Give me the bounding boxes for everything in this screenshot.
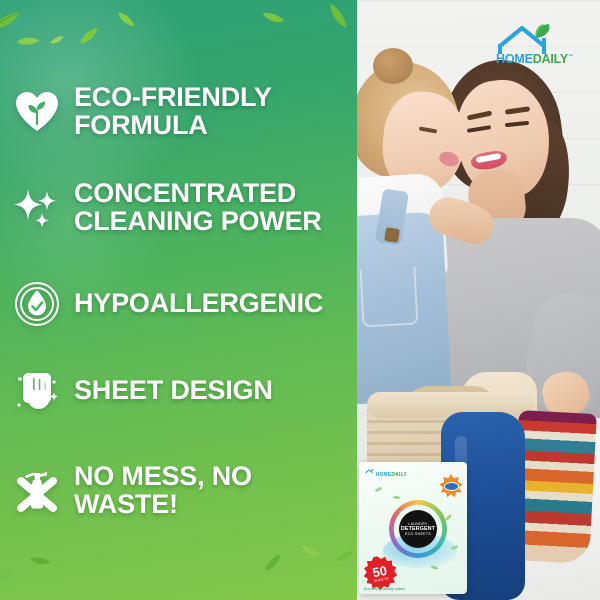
hand-sheet-icon — [14, 368, 60, 414]
award-starburst-icon — [439, 474, 463, 498]
feature-item-no-mess: NO MESS, NO WASTE! — [14, 463, 357, 518]
sparkles-icon — [14, 185, 60, 231]
lifestyle-photo: HOMEDAILY LAUNDRY DETERGENT ECO SHEETS 5… — [357, 0, 600, 600]
package-leaf-icon — [375, 487, 383, 492]
package-leaf-icon — [393, 495, 401, 500]
feature-label: CONCENTRATED CLEANING POWER — [74, 180, 322, 235]
feature-item-eco-friendly: ECO-FRIENDLY FORMULA — [14, 84, 357, 139]
product-feature-banner: ECO-FRIENDLY FORMULA CONCENTRATED CLEANI… — [0, 0, 600, 600]
package-brand-logo: HOMEDAILY — [365, 469, 407, 478]
girl-overalls-buckle — [384, 227, 400, 243]
package-tagline: Eco-friendly laundry sheets — [364, 587, 405, 591]
girl-hair-bun — [373, 48, 413, 84]
feature-label: HYPOALLERGENIC — [74, 290, 323, 318]
package-label: LAUNDRY DETERGENT ECO SHEETS — [399, 510, 437, 548]
feature-item-sheet-design: SHEET DESIGN — [14, 368, 357, 414]
feature-item-hypoallergenic: HYPOALLERGENIC — [14, 281, 357, 327]
product-package[interactable]: HOMEDAILY LAUNDRY DETERGENT ECO SHEETS 5… — [359, 462, 467, 594]
package-leaf-icon — [445, 514, 452, 520]
girl-overalls-pocket — [360, 267, 419, 328]
droplet-check-icon — [14, 281, 60, 327]
feature-label: SHEET DESIGN — [74, 377, 273, 405]
brand-logo[interactable]: HOMEDAILY™ — [492, 26, 592, 66]
heart-leaf-icon — [14, 89, 60, 135]
brand-logo-text: HOMEDAILY™ — [496, 52, 573, 66]
feature-label: NO MESS, NO WASTE! — [74, 463, 252, 518]
no-spray-bottle-icon — [14, 468, 60, 514]
feature-list: ECO-FRIENDLY FORMULA CONCENTRATED CLEANI… — [0, 0, 357, 600]
feature-item-concentrated: CONCENTRATED CLEANING POWER — [14, 180, 357, 235]
features-panel: ECO-FRIENDLY FORMULA CONCENTRATED CLEANI… — [0, 0, 357, 600]
feature-label: ECO-FRIENDLY FORMULA — [74, 84, 272, 139]
